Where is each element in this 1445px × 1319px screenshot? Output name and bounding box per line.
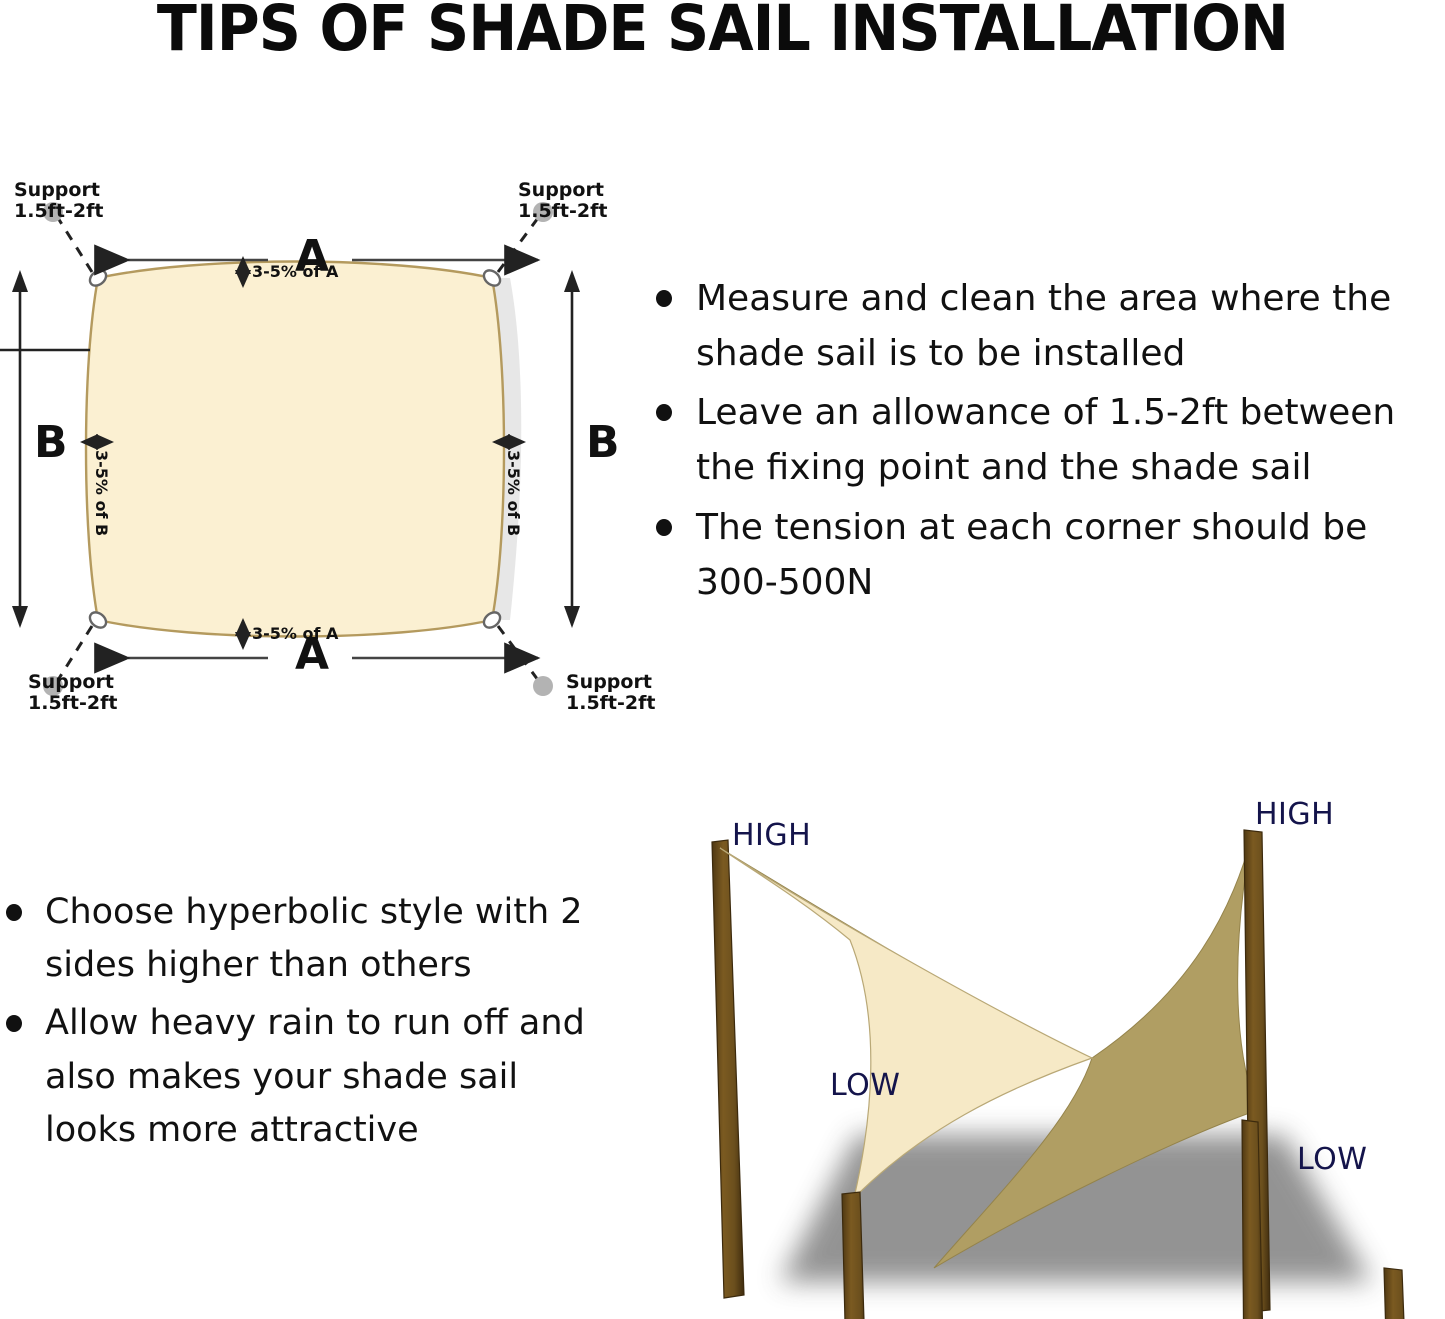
support-label-line2: 1.5ft-2ft bbox=[28, 692, 117, 714]
high-left-label: HIGH bbox=[732, 818, 811, 853]
hyperbolic-sail-illustration: HIGH HIGH LOW LOW bbox=[672, 790, 1445, 1319]
leader-bottom-right bbox=[498, 626, 538, 680]
dim-label-b-left: B bbox=[34, 418, 68, 467]
list-item: Leave an allowance of 1.5-2ft between th… bbox=[648, 386, 1445, 495]
dim-b-left-arrow-down bbox=[12, 606, 28, 628]
support-label-line2: 1.5ft-2ft bbox=[518, 200, 607, 222]
dim-label-b-right: B bbox=[586, 418, 620, 467]
sail-shape bbox=[86, 262, 504, 637]
tips-list-bottom: Choose hyperbolic style with 2 sides hig… bbox=[0, 886, 620, 1162]
page-title: TIPS OF SHADE SAIL INSTALLATION bbox=[51, 0, 1395, 62]
pct-label-a-bottom: 3-5% of A bbox=[252, 625, 338, 643]
pole-low-right bbox=[1384, 1268, 1410, 1319]
rect-diagram-svg bbox=[0, 150, 660, 740]
support-label-line1: Support bbox=[28, 671, 114, 693]
support-label-bottom-left: Support 1.5ft-2ft bbox=[28, 672, 117, 715]
support-label-bottom-right: Support 1.5ft-2ft bbox=[566, 672, 655, 715]
high-right-label: HIGH bbox=[1255, 797, 1334, 832]
list-item-text: Choose hyperbolic style with 2 sides hig… bbox=[45, 892, 583, 985]
bullet-dot-icon bbox=[656, 290, 672, 307]
support-label-line1: Support bbox=[518, 179, 604, 201]
support-label-top-right: Support 1.5ft-2ft bbox=[518, 180, 607, 223]
pct-label-b-right: 3-5% of B bbox=[504, 450, 522, 536]
list-item: Allow heavy rain to run off and also mak… bbox=[0, 997, 620, 1157]
support-label-line1: Support bbox=[14, 179, 100, 201]
bullet-dot-icon bbox=[6, 1015, 22, 1032]
list-item: Choose hyperbolic style with 2 sides hig… bbox=[0, 886, 620, 992]
bullet-dot-icon bbox=[656, 519, 672, 536]
support-label-line2: 1.5ft-2ft bbox=[566, 692, 655, 714]
leader-top-left bbox=[58, 218, 92, 272]
bullet-dot-icon bbox=[656, 404, 672, 421]
rectangle-sail-diagram: Support 1.5ft-2ft Support 1.5ft-2ft Supp… bbox=[0, 150, 660, 740]
support-label-line1: Support bbox=[566, 671, 652, 693]
dim-b-left-arrow-up bbox=[12, 270, 28, 292]
low-left-label: LOW bbox=[830, 1068, 900, 1103]
list-item: Measure and clean the area where the sha… bbox=[648, 272, 1445, 381]
list-item: The tension at each corner should be 300… bbox=[648, 501, 1445, 610]
pct-label-a-top: 3-5% of A bbox=[252, 263, 338, 281]
tips-list-right: Measure and clean the area where the sha… bbox=[648, 272, 1445, 615]
hyperbolic-svg bbox=[672, 790, 1445, 1319]
pole-high-left bbox=[712, 840, 744, 1298]
list-item-text: Allow heavy rain to run off and also mak… bbox=[45, 1003, 585, 1149]
support-dot-bottom-right bbox=[533, 676, 553, 696]
list-item-text: Leave an allowance of 1.5-2ft between th… bbox=[696, 392, 1395, 488]
pct-label-b-left: 3-5% of B bbox=[92, 450, 110, 536]
dim-b-right-arrow-up bbox=[564, 270, 580, 292]
leader-top-right bbox=[498, 218, 538, 272]
list-item-text: The tension at each corner should be 300… bbox=[696, 507, 1367, 603]
support-label-top-left: Support 1.5ft-2ft bbox=[14, 180, 103, 223]
bullet-dot-icon bbox=[6, 904, 22, 921]
dim-b-right-arrow-down bbox=[564, 606, 580, 628]
list-item-text: Measure and clean the area where the sha… bbox=[696, 278, 1391, 374]
low-right-label: LOW bbox=[1297, 1142, 1367, 1177]
support-label-line2: 1.5ft-2ft bbox=[14, 200, 103, 222]
